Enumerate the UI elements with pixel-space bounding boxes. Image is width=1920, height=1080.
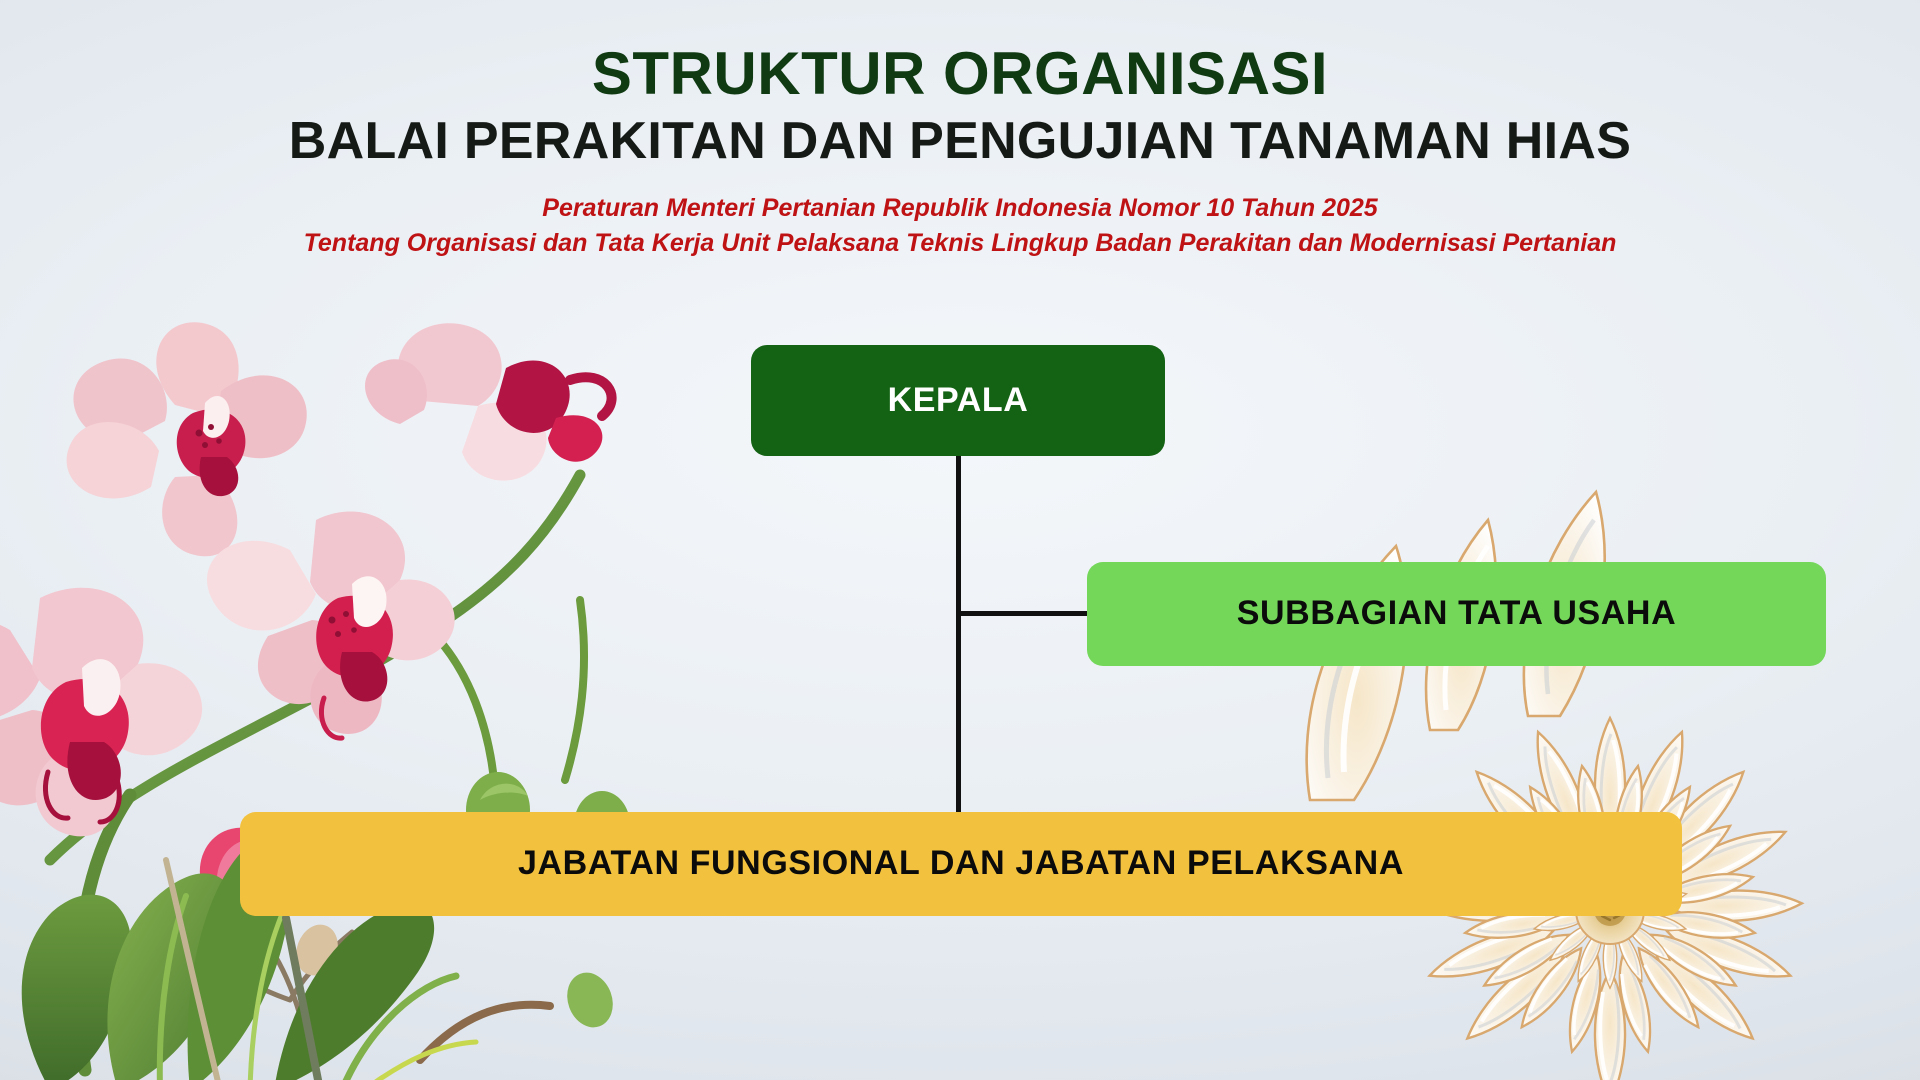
org-node-kepala[interactable]: KEPALA bbox=[751, 345, 1165, 456]
org-node-kepala-label: KEPALA bbox=[888, 382, 1029, 419]
connector-horizontal-subbagian bbox=[956, 611, 1091, 616]
connector-vertical-main bbox=[956, 456, 961, 820]
poster-canvas: STRUKTUR ORGANISASI BALAI PERAKITAN DAN … bbox=[0, 0, 1920, 1080]
org-node-subbagian-tata-usaha-label: SUBBAGIAN TATA USAHA bbox=[1237, 595, 1677, 632]
org-node-jabatan-fungsional-pelaksana-label: JABATAN FUNGSIONAL DAN JABATAN PELAKSANA bbox=[518, 845, 1404, 882]
org-node-jabatan-fungsional-pelaksana[interactable]: JABATAN FUNGSIONAL DAN JABATAN PELAKSANA bbox=[240, 812, 1682, 916]
org-chart: KEPALA SUBBAGIAN TATA USAHA JABATAN FUNG… bbox=[0, 0, 1920, 1080]
org-node-subbagian-tata-usaha[interactable]: SUBBAGIAN TATA USAHA bbox=[1087, 562, 1826, 666]
